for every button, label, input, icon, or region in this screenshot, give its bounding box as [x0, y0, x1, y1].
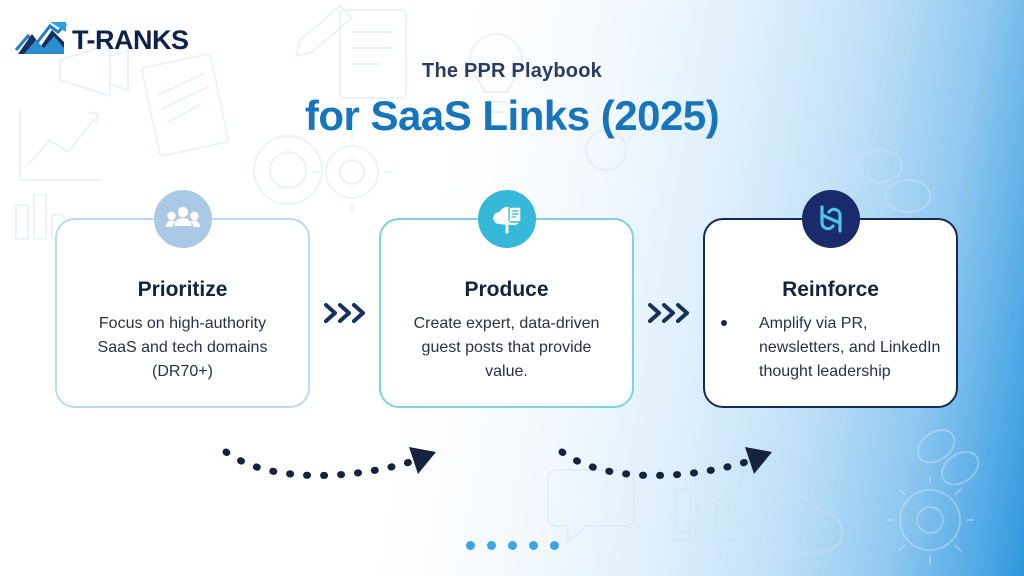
step-title: Prioritize [57, 278, 308, 302]
pagination-dots[interactable] [0, 541, 1024, 550]
step-body: Create expert, data-driven guest posts t… [407, 312, 606, 384]
step-title: Reinforce [705, 278, 956, 302]
pagination-dot[interactable] [550, 541, 559, 550]
arrow-path-1 [226, 452, 410, 475]
arrow-head-1 [409, 447, 436, 474]
chevron-right-icon-2 [646, 300, 694, 326]
infographic-canvas: T-RANKS The PPR Playbook for SaaS Links … [0, 0, 1024, 576]
step-card-reinforce[interactable]: Reinforce Amplify via PR, newsletters, a… [703, 218, 958, 408]
step-body: Amplify via PR, newsletters, and LinkedI… [759, 312, 942, 384]
pagination-dot[interactable] [466, 541, 475, 550]
step-card-prioritize[interactable]: Prioritize Focus on high-authority SaaS … [55, 218, 310, 408]
arrow-head-2 [745, 447, 772, 474]
step-title: Produce [381, 278, 632, 302]
pagination-dot[interactable] [508, 541, 517, 550]
arrow-path-2 [562, 452, 746, 475]
chevron-right-icon-1 [322, 300, 370, 326]
step-card-produce[interactable]: Produce Create expert, data-driven guest… [379, 218, 634, 408]
linked-rings-icon [802, 190, 860, 248]
step-body: Focus on high-authority SaaS and tech do… [83, 312, 282, 384]
cloud-upload-document-icon [478, 190, 536, 248]
pagination-dot[interactable] [487, 541, 496, 550]
bullet-point-icon [721, 320, 727, 326]
people-group-icon [154, 190, 212, 248]
pagination-dot[interactable] [529, 541, 538, 550]
